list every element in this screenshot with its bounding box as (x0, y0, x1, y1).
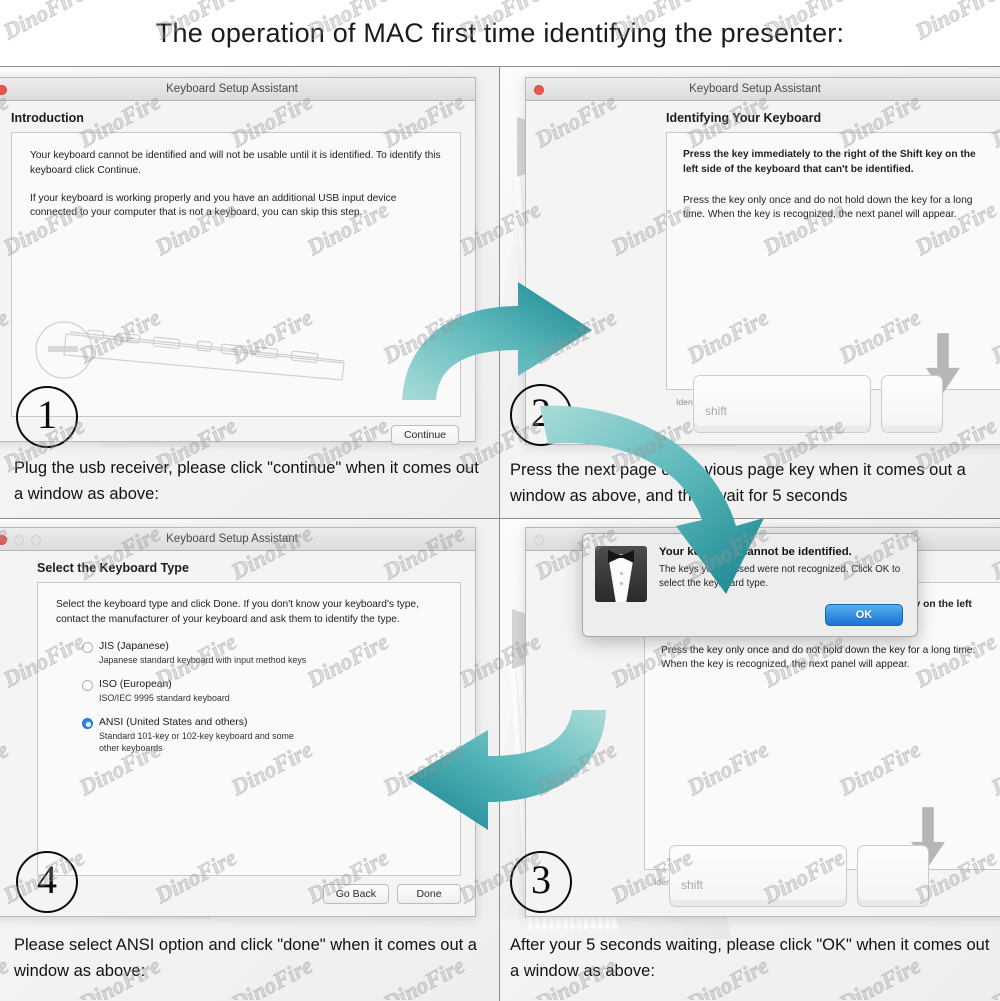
ok-button[interactable]: OK (825, 604, 903, 626)
instruction-detail: Press the key only once and do not hold … (683, 194, 985, 224)
flow-arrow-1-to-2 (392, 272, 612, 402)
steps-grid: Keyboard Setup Assistant Introduction Yo… (0, 66, 1000, 1000)
keyboard-type-option-ansi[interactable]: ANSI (United States and others) Standard… (82, 717, 442, 754)
content-box: Press the key immediately to the right o… (666, 132, 1000, 390)
option-label: ISO (European) (99, 679, 172, 690)
close-button-icon[interactable] (0, 85, 7, 95)
step-caption-3: After your 5 seconds waiting, please cli… (510, 932, 990, 985)
radio-iso-icon[interactable] (82, 680, 93, 691)
option-label: ANSI (United States and others) (99, 717, 247, 728)
next-keycap (857, 845, 929, 907)
close-button-icon[interactable] (0, 535, 7, 545)
minimize-button-icon[interactable] (14, 535, 24, 545)
window-traffic-lights[interactable] (0, 85, 7, 95)
shift-key-label: shift (681, 878, 703, 892)
window-title: Keyboard Setup Assistant (526, 83, 1000, 95)
flow-arrow-2-to-3 (540, 400, 770, 600)
option-label: JIS (Japanese) (99, 641, 169, 652)
section-heading: Introduction (0, 101, 475, 132)
step-caption-1: Plug the usb receiver, please click "con… (14, 455, 489, 508)
keyboard-type-option-iso[interactable]: ISO (European) ISO/IEC 9995 standard key… (82, 679, 442, 704)
go-back-button[interactable]: Go Back (323, 884, 389, 904)
section-heading: Identifying Your Keyboard (526, 101, 1000, 132)
step-number-1: 1 (16, 386, 78, 448)
flow-arrow-3-to-4 (392, 706, 612, 836)
window-title: Keyboard Setup Assistant (0, 83, 475, 95)
option-description: Japanese standard keyboard with input me… (99, 654, 442, 666)
shift-key-illustration: shift (661, 673, 985, 929)
keyboard-type-option-jis[interactable]: JIS (Japanese) Japanese standard keyboar… (82, 641, 442, 666)
intro-paragraph-2: If your keyboard is working properly and… (30, 192, 442, 222)
window-titlebar: Keyboard Setup Assistant (526, 78, 1000, 101)
page-title: The operation of MAC first time identify… (0, 0, 1000, 66)
instruction-bold: Press the key immediately to the right o… (683, 148, 985, 178)
shift-keycap: shift (669, 845, 847, 907)
step-caption-4: Please select ANSI option and click "don… (14, 932, 489, 985)
next-keycap (881, 375, 943, 433)
step-number-4: 4 (16, 851, 78, 913)
maximize-button-icon[interactable] (31, 535, 41, 545)
window-traffic-lights[interactable] (534, 85, 544, 95)
window-titlebar: Keyboard Setup Assistant (0, 78, 475, 101)
window-titlebar: Keyboard Setup Assistant (0, 528, 475, 551)
instruction-detail: Press the key only once and do not hold … (661, 644, 985, 674)
option-description: ISO/IEC 9995 standard keyboard (99, 692, 442, 704)
radio-jis-icon[interactable] (82, 642, 93, 653)
done-button[interactable]: Done (397, 884, 461, 904)
window-traffic-lights[interactable] (0, 535, 41, 545)
option-description: Standard 101-key or 102-key keyboard and… (99, 730, 309, 754)
radio-ansi-icon[interactable] (82, 718, 93, 729)
step-number-3: 3 (510, 851, 572, 913)
window-title: Keyboard Setup Assistant (0, 533, 475, 545)
continue-button[interactable]: Continue (391, 425, 459, 445)
close-button-icon[interactable] (534, 85, 544, 95)
keyboard-illustration (26, 308, 356, 400)
intro-paragraph-1: Your keyboard cannot be identified and w… (30, 149, 442, 179)
type-instruction: Select the keyboard type and click Done.… (56, 598, 442, 628)
section-heading: Select the Keyboard Type (0, 551, 475, 582)
